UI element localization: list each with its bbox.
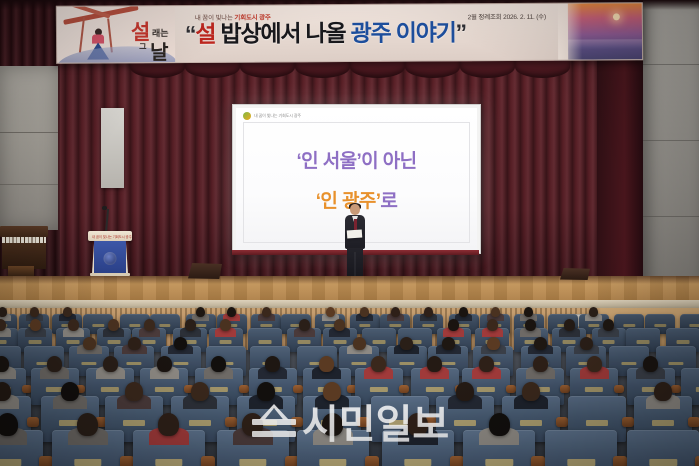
seat-armrest — [695, 456, 699, 466]
presenter-person — [341, 204, 369, 280]
seat-armrest — [688, 417, 699, 427]
audience-member-head — [83, 337, 96, 350]
auditorium-seat — [545, 430, 617, 466]
seat-armrest — [560, 385, 570, 393]
audience-member-head — [61, 382, 79, 401]
seat-armrest — [613, 456, 627, 466]
audience-member-head — [533, 356, 548, 372]
audience-member-head — [68, 319, 79, 331]
seat-armrest — [225, 417, 237, 427]
audience-member-head — [524, 307, 533, 317]
event-banner: 설 래는 그 날 내 꿈이 빛나는 기회도시 광주 2월 정례조회 2026. … — [56, 2, 643, 64]
seat-armrest — [27, 417, 39, 427]
audience-member-head — [299, 319, 310, 331]
banner-title: “설 밥상에서 나올 광주 이야기” — [185, 21, 565, 46]
audience-member-head — [456, 382, 474, 401]
audience-section — [0, 306, 699, 466]
city-emblem-icon — [104, 252, 117, 265]
audience-member-head — [424, 307, 433, 317]
stage-monitor-speaker-right — [560, 268, 590, 280]
piano-bench — [8, 266, 34, 276]
audience-member-head — [0, 382, 11, 401]
slide-logo-text: 내 꿈이 빛나는 기회도시 광주 — [254, 113, 301, 119]
seat-armrest — [291, 417, 303, 427]
seat-armrest — [201, 456, 215, 466]
seat-armrest — [399, 385, 409, 393]
banner-date: 2월 정례조회 2026. 2. 11. (수) — [468, 11, 546, 21]
audience-member-head — [196, 307, 205, 317]
banner-nal-char: 날 — [150, 36, 168, 64]
banner-subtitle-seollae: 설 래는 그 날 — [131, 14, 183, 58]
podium-plate-text: 내 꿈이 빛나는 기회도시 광주 — [92, 234, 132, 239]
seat-armrest — [293, 385, 303, 393]
audience-member-head — [564, 319, 575, 331]
audience-member-head — [77, 413, 98, 436]
banner-quote-close: ” — [456, 19, 466, 45]
audience-member-head — [326, 307, 335, 317]
seat-armrest — [614, 385, 624, 393]
audience-member-head — [459, 307, 468, 317]
audience-member-head — [587, 356, 602, 372]
audience-member-head — [157, 356, 172, 372]
banner-geu-char: 그 — [139, 41, 146, 52]
seat-armrest — [120, 456, 134, 466]
seat-armrest — [365, 456, 379, 466]
audience-member-head — [360, 307, 369, 317]
audience-member-head — [522, 382, 540, 401]
slide-line-1: ‘인 서울’이 아닌 — [236, 146, 477, 173]
slide-line-2-tail: 로 — [380, 191, 397, 212]
wall-panel-left — [0, 66, 58, 230]
audience-member-head — [400, 337, 413, 350]
audience-member-head — [603, 319, 614, 331]
audience-member-head — [534, 337, 547, 350]
lectern-podium: 내 꿈이 빛나는 기회도시 광주 — [88, 231, 132, 276]
stage-monitor-speaker — [188, 263, 222, 279]
audience-member-head — [174, 337, 187, 350]
wall-panel-right — [643, 0, 699, 296]
slide-logo: 내 꿈이 빛나는 기회도시 광주 — [243, 112, 301, 120]
audience-member-head — [391, 307, 400, 317]
audience-member-head — [427, 356, 442, 372]
seat-armrest — [622, 417, 634, 427]
audience-member-head — [319, 356, 334, 372]
seat-armrest — [239, 385, 249, 393]
audience-member-head — [257, 382, 275, 401]
auditorium-photo: 설 래는 그 날 내 꿈이 빛나는 기회도시 광주 2월 정례조회 2026. … — [0, 0, 699, 466]
banner-quote-open: “ — [185, 21, 195, 47]
audience-member-head — [220, 319, 231, 331]
background-panel — [101, 108, 124, 188]
audience-member-head — [487, 319, 498, 331]
slide-logo-icon — [243, 112, 251, 120]
audience-member-head — [0, 307, 7, 317]
banner-title-blue: 광주 이야기 — [351, 19, 456, 46]
audience-member-head — [265, 356, 280, 372]
audience-member-head — [108, 319, 119, 331]
audience-member-head — [487, 337, 500, 350]
audience-member-head — [63, 307, 72, 317]
audience-member-head — [643, 356, 658, 372]
presenter-notes — [347, 229, 363, 238]
audience-member-head — [262, 307, 271, 317]
audience-member-head — [589, 307, 598, 317]
audience-member-head — [580, 337, 593, 350]
banner-title-black: 밥상에서 나올 — [215, 20, 351, 47]
audience-member-head — [654, 382, 672, 401]
audience-member-head — [479, 356, 494, 372]
audience-member-head — [30, 319, 41, 331]
audience-member-head — [185, 319, 196, 331]
presenter-head — [350, 204, 360, 215]
audience-member-head — [47, 356, 62, 372]
audience-member-head — [30, 307, 39, 317]
seat-armrest — [357, 417, 369, 427]
audience-member-head — [0, 413, 18, 436]
audience-member-head — [128, 337, 141, 350]
banner-sunrise-photo — [568, 3, 642, 59]
banner-title-red: 설 — [195, 21, 215, 47]
seat-armrest — [671, 385, 681, 393]
audience-member-head — [489, 413, 510, 436]
audience-member-head — [144, 319, 155, 331]
audience-member-head — [323, 382, 341, 401]
auditorium-seat — [627, 430, 699, 466]
audience-member-head — [191, 382, 209, 401]
audience-member-head — [227, 307, 236, 317]
sun-icon — [613, 13, 620, 20]
audience-member-head — [158, 413, 179, 436]
audience-member-head — [491, 307, 500, 317]
audience-member-head — [442, 337, 455, 350]
audience-member-head — [322, 413, 343, 436]
audience-member-head — [353, 337, 366, 350]
audience-member-head — [103, 356, 118, 372]
audience-member-head — [125, 382, 143, 401]
audience-member-head — [407, 413, 428, 436]
seat-armrest — [450, 456, 464, 466]
upright-piano — [0, 226, 48, 276]
seat-armrest — [506, 385, 516, 393]
seat-armrest — [556, 417, 568, 427]
audience-member-head — [242, 413, 263, 436]
audience-member-head — [448, 319, 459, 331]
seat-armrest — [531, 456, 545, 466]
